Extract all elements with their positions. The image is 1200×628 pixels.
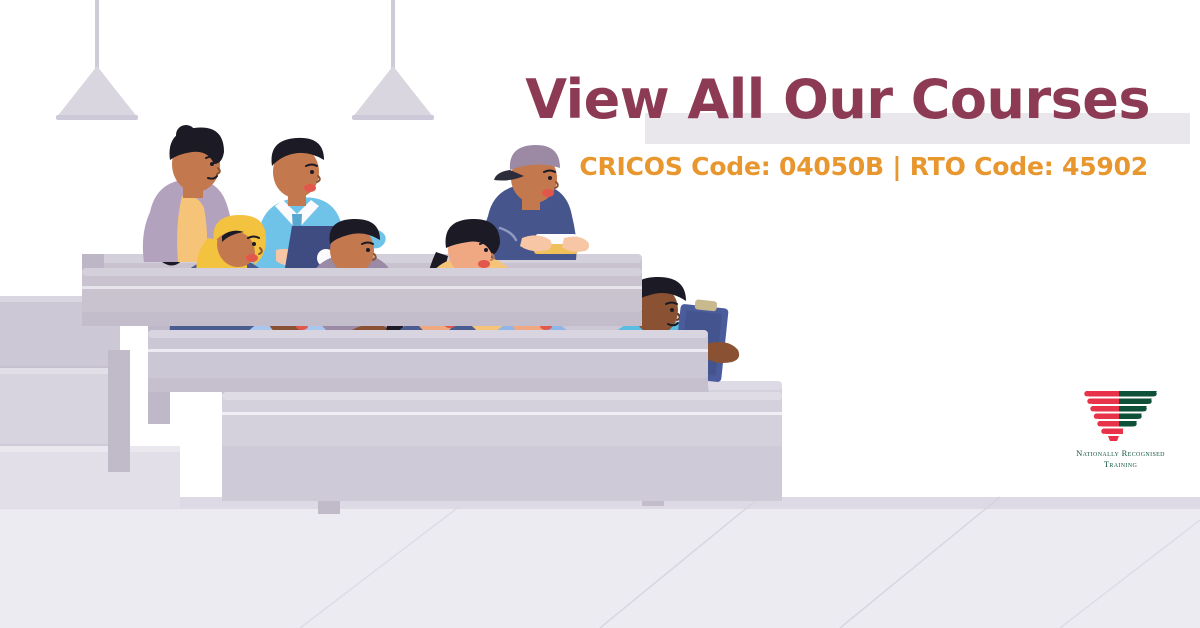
lecture-hall-floor (0, 497, 1200, 628)
middle-desk-panel (148, 330, 708, 392)
nrt-logo-caption: Nationally Recognised Training (1053, 448, 1188, 470)
headline-block: View All Our Courses CRICOS Code: 04050B… (0, 60, 1200, 181)
front-desk-panel (222, 392, 782, 501)
nationally-recognised-training-logo: Nationally Recognised Training (1053, 386, 1188, 478)
page-title-wrapper: View All Our Courses (0, 60, 1158, 140)
course-promo-banner: View All Our Courses CRICOS Code: 04050B… (0, 0, 1200, 628)
page-title: View All Our Courses (0, 60, 1158, 140)
back-desk-panel (82, 268, 642, 326)
nrt-triangle-icon (1053, 386, 1188, 446)
accreditation-codes: CRICOS Code: 04050B | RTO Code: 45902 (0, 152, 1158, 181)
